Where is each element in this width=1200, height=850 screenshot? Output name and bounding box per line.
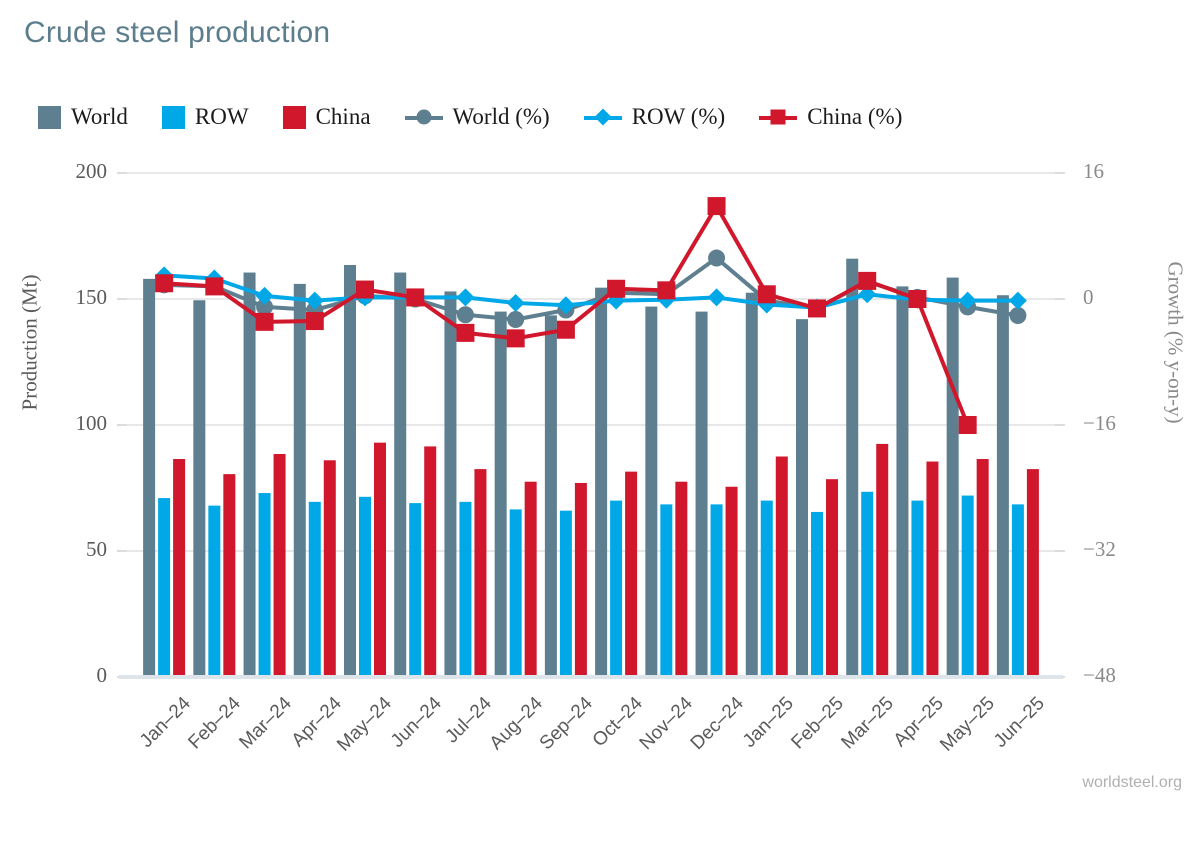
bar-world: [796, 319, 808, 677]
bar-row: [309, 502, 321, 677]
marker-square: [456, 324, 474, 342]
marker-diamond: [507, 294, 525, 312]
bar-china: [826, 479, 838, 677]
bar-world: [746, 293, 758, 677]
bar-china: [726, 487, 738, 677]
y-axis-right-tick: 16: [1083, 159, 1104, 184]
y-axis-left-tick: 200: [76, 159, 108, 184]
bar-world: [143, 279, 155, 677]
y-axis-right-tick: −32: [1083, 537, 1116, 562]
bar-row: [359, 497, 371, 677]
bar-china: [876, 444, 888, 677]
marker-diamond: [456, 288, 474, 306]
bar-row: [158, 498, 170, 677]
marker-square: [507, 329, 525, 347]
line-row: [164, 275, 1018, 307]
marker-square: [356, 281, 374, 299]
chart-plot-area: Production (Mt) Growth (% y-on-y) 200150…: [0, 0, 1200, 800]
bar-row: [911, 501, 923, 677]
y-axis-right-tick: 0: [1083, 285, 1094, 310]
bar-china: [675, 482, 687, 677]
bar-china: [776, 457, 788, 678]
bar-china: [324, 460, 336, 677]
bar-world: [495, 312, 507, 677]
bar-world: [193, 300, 205, 677]
marker-square: [607, 280, 625, 298]
y-axis-left-title: Production (Mt): [18, 243, 43, 443]
bar-world: [595, 288, 607, 677]
y-axis-right-title: Growth (% y-on-y): [1163, 223, 1188, 463]
bar-china: [173, 459, 185, 677]
marker-diamond: [1009, 292, 1027, 310]
bar-row: [1012, 504, 1024, 677]
bar-world: [645, 307, 657, 677]
marker-square: [959, 416, 977, 434]
bar-world: [997, 295, 1009, 677]
marker-square: [708, 197, 726, 215]
marker-square: [155, 274, 173, 292]
y-axis-right-tick: −48: [1083, 663, 1116, 688]
marker-square: [808, 299, 826, 317]
y-axis-left-tick: 50: [86, 537, 107, 562]
bar-world: [545, 315, 557, 677]
y-axis-left-tick: 100: [76, 411, 108, 436]
bar-row: [811, 512, 823, 677]
bar-china: [926, 462, 938, 677]
bar-world: [294, 284, 306, 677]
marker-square: [758, 285, 776, 303]
marker-square: [205, 277, 223, 295]
bar-world: [696, 312, 708, 677]
bar-china: [223, 474, 235, 677]
marker-diamond: [708, 288, 726, 306]
bar-china: [977, 459, 989, 677]
marker-square: [406, 288, 424, 306]
bar-row: [861, 492, 873, 677]
marker-square: [557, 321, 575, 339]
bar-world: [896, 286, 908, 677]
marker-square: [908, 290, 926, 308]
bar-world: [344, 265, 356, 677]
bar-row: [610, 501, 622, 677]
marker-circle: [507, 311, 524, 328]
marker-square: [306, 312, 324, 330]
bar-world: [444, 291, 456, 677]
bar-row: [510, 509, 522, 677]
bar-china: [575, 483, 587, 677]
chart-canvas: [0, 0, 1200, 800]
bar-row: [208, 506, 220, 677]
bar-china: [374, 443, 386, 677]
bar-row: [459, 502, 471, 677]
marker-square: [858, 272, 876, 290]
bar-china: [525, 482, 537, 677]
bar-world: [947, 278, 959, 677]
marker-square: [256, 313, 274, 331]
y-axis-left-tick: 150: [76, 285, 108, 310]
marker-circle: [457, 306, 474, 323]
marker-square: [657, 281, 675, 299]
bar-row: [660, 504, 672, 677]
bar-row: [962, 496, 974, 677]
bar-world: [244, 273, 256, 677]
marker-circle: [708, 250, 725, 267]
bar-china: [474, 469, 486, 677]
bar-row: [259, 493, 271, 677]
bar-china: [1027, 469, 1039, 677]
source-footer: worldsteel.org: [1082, 774, 1182, 792]
bar-china: [625, 472, 637, 677]
bar-world: [394, 273, 406, 677]
bar-china: [424, 446, 436, 677]
bar-row: [560, 511, 572, 677]
bar-row: [761, 501, 773, 677]
bar-world: [846, 259, 858, 677]
bar-row: [711, 504, 723, 677]
bar-row: [409, 503, 421, 677]
y-axis-right-tick: −16: [1083, 411, 1116, 436]
marker-circle: [1009, 307, 1026, 324]
bar-china: [274, 454, 286, 677]
y-axis-left-tick: 0: [97, 663, 108, 688]
